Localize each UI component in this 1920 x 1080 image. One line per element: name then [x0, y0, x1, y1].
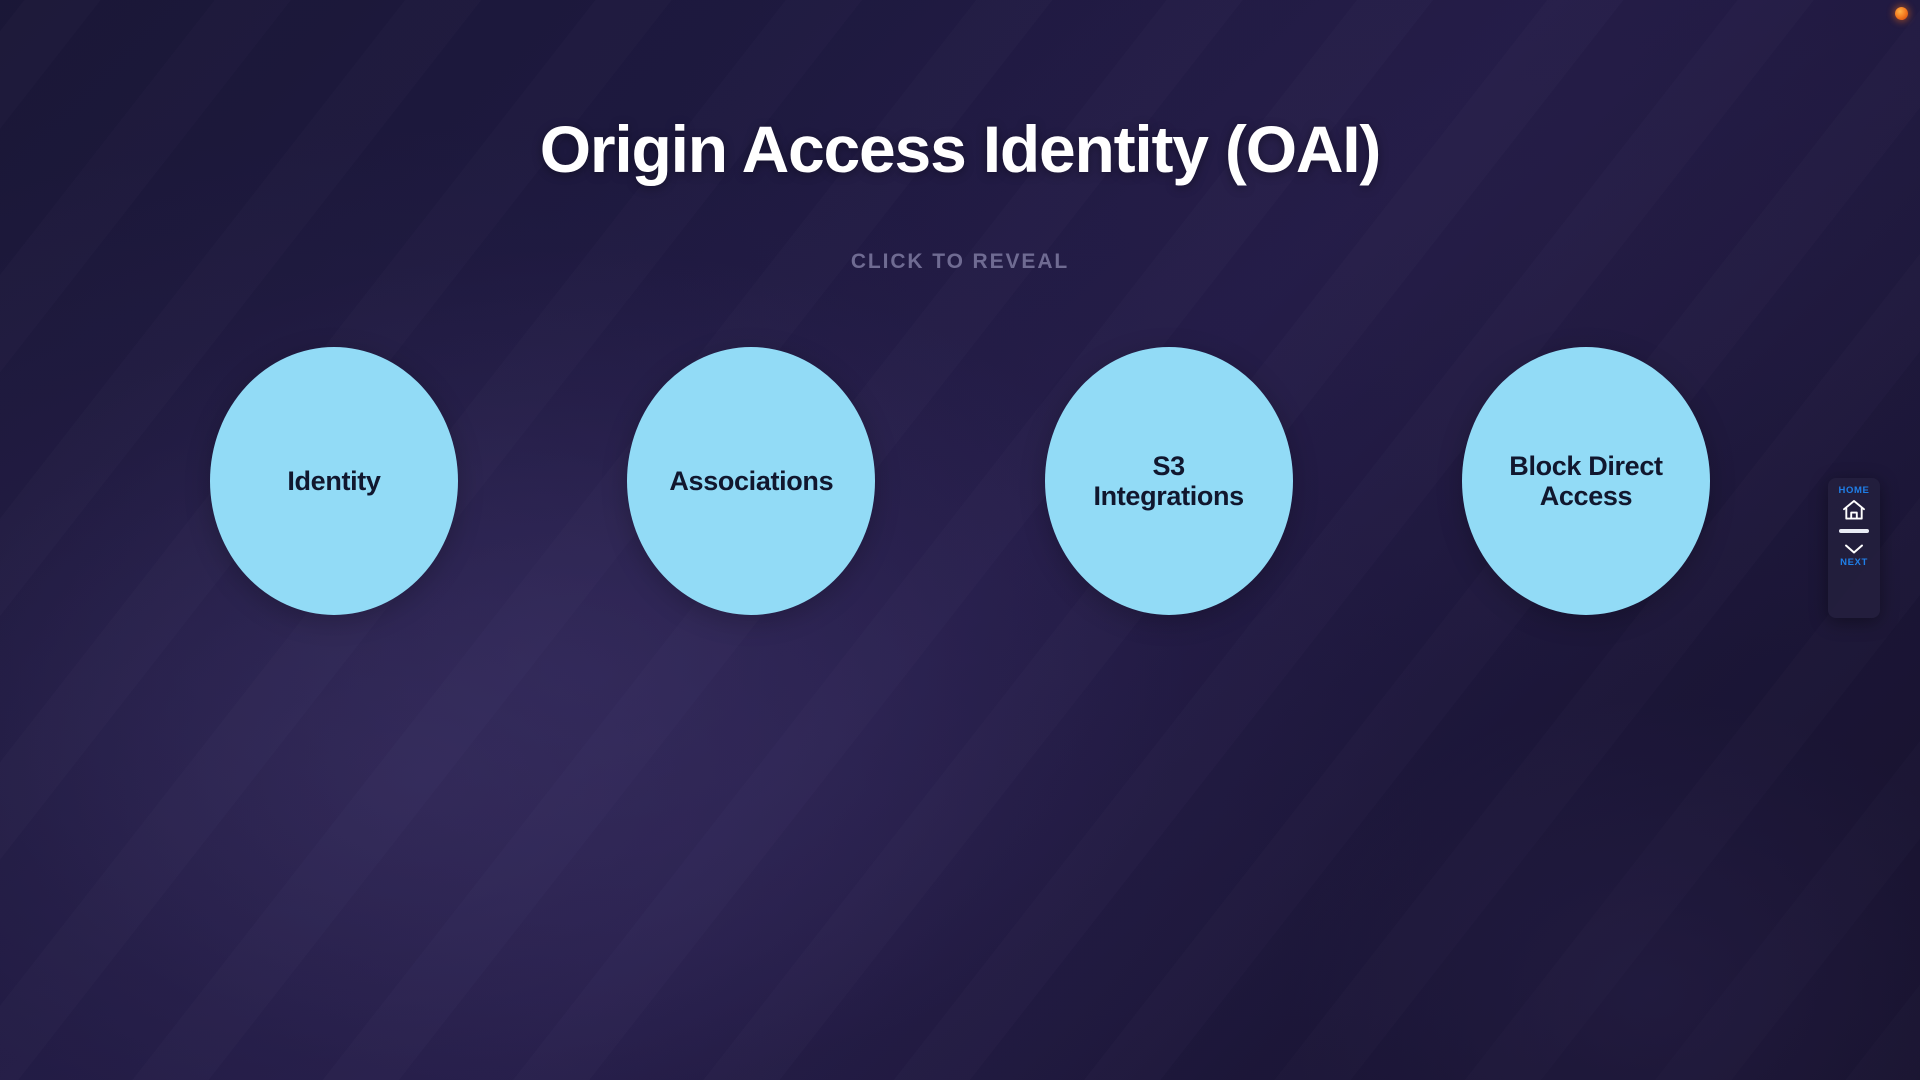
circle-card-identity[interactable]: Identity — [210, 347, 458, 615]
recording-dot-icon — [1895, 7, 1908, 20]
chevron-down-icon — [1842, 541, 1866, 557]
home-button-label: HOME — [1839, 486, 1870, 496]
next-button[interactable]: NEXT — [1828, 535, 1880, 568]
progress-bar-icon — [1839, 529, 1869, 533]
click-to-reveal-hint: CLICK TO REVEAL — [0, 250, 1920, 274]
navigation-widget: HOME NEXT — [1828, 478, 1880, 618]
circle-row: Identity Associations S3 Integrations Bl… — [210, 347, 1710, 619]
circle-label: S3 Integrations — [1072, 451, 1266, 511]
home-button[interactable]: HOME — [1828, 484, 1880, 522]
circle-label: Identity — [265, 466, 402, 496]
circle-card-block-direct-access[interactable]: Block Direct Access — [1462, 347, 1710, 615]
home-icon — [1841, 498, 1867, 522]
slide-content: Origin Access Identity (OAI) CLICK TO RE… — [0, 0, 1920, 1080]
circle-label: Associations — [647, 466, 855, 496]
circle-card-s3-integrations[interactable]: S3 Integrations — [1045, 347, 1293, 615]
page-title: Origin Access Identity (OAI) — [0, 115, 1920, 185]
next-button-label: NEXT — [1840, 558, 1868, 568]
circle-label: Block Direct Access — [1487, 451, 1684, 511]
circle-card-associations[interactable]: Associations — [627, 347, 875, 615]
